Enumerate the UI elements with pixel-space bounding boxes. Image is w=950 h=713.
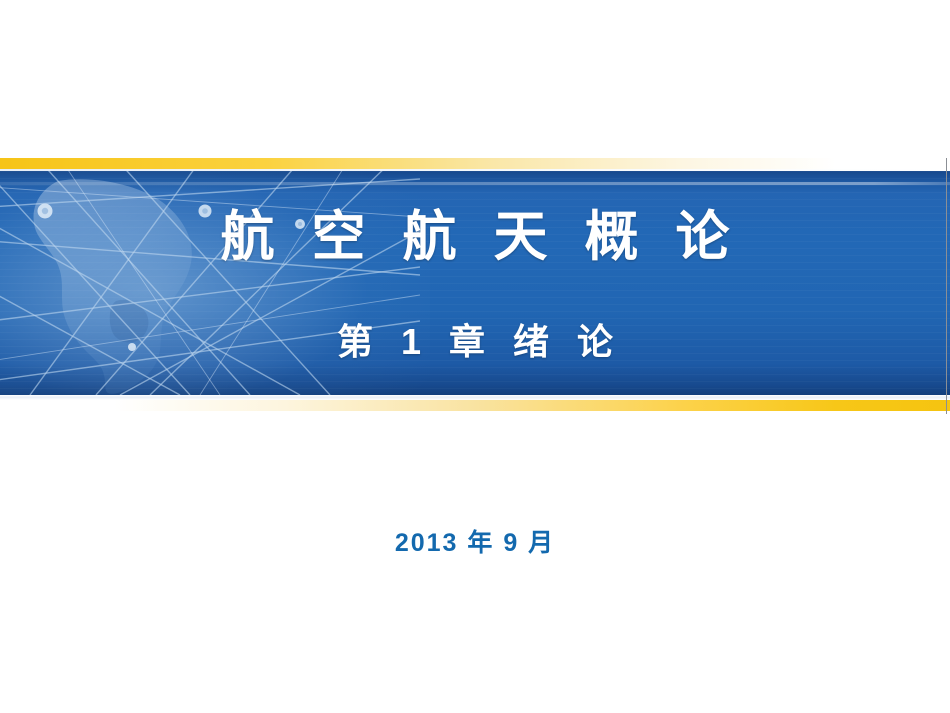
slide-subtitle: 第 1 章 绪 论 bbox=[0, 324, 950, 360]
title-slide: 航 空 航 天 概 论 第 1 章 绪 论 2013 年 9 月 bbox=[0, 0, 950, 713]
right-edge-rule bbox=[946, 158, 947, 414]
banner-top-highlight bbox=[0, 182, 950, 185]
slide-date: 2013 年 9 月 bbox=[0, 531, 950, 556]
gold-rule-bottom-icon bbox=[0, 400, 950, 411]
slide-title: 航 空 航 天 概 论 bbox=[0, 210, 950, 264]
title-banner bbox=[0, 155, 950, 413]
gold-rule-top-icon bbox=[0, 158, 950, 169]
